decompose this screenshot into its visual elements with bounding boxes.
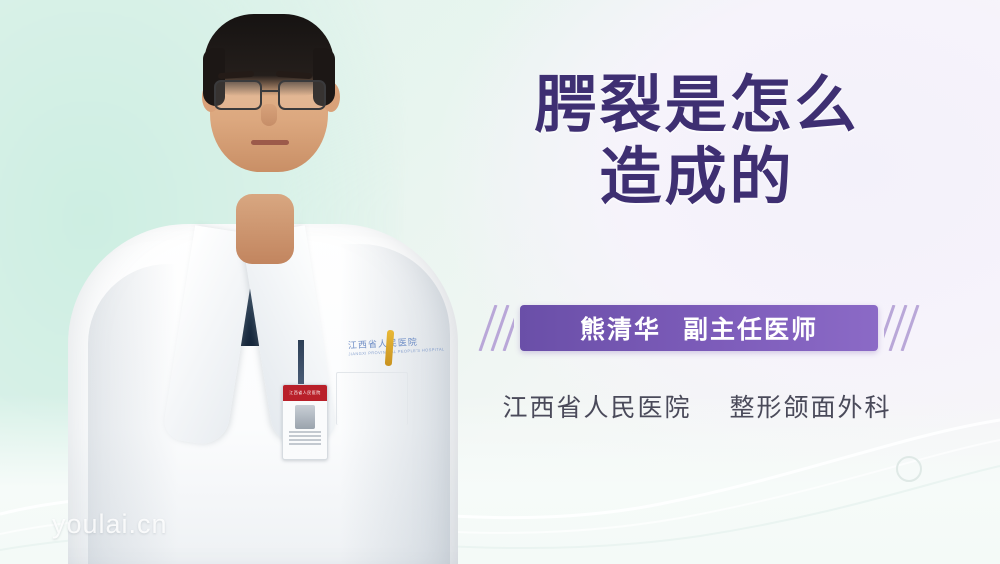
id-badge-line: [289, 443, 321, 445]
decorative-circle-icon: [896, 456, 922, 482]
glasses-lens-left: [214, 80, 262, 110]
doctor-name-bar: 熊清华 副主任医师: [520, 305, 878, 351]
video-title-line2: 造成的: [462, 142, 932, 214]
glasses-icon: [212, 80, 328, 106]
id-badge-line: [289, 439, 321, 441]
badge-lanyard-clip: [298, 340, 304, 386]
doctor-portrait: 江西省人民医院 JIANGXI PROVINCIAL PEOPLE'S HOSP…: [60, 0, 460, 564]
coat-pocket: [336, 372, 408, 425]
video-thumbnail: 江西省人民医院 JIANGXI PROVINCIAL PEOPLE'S HOSP…: [0, 0, 1000, 564]
nose: [261, 104, 277, 126]
video-title: 腭裂是怎么 造成的: [462, 70, 932, 214]
id-badge: 江西省人民医院: [282, 384, 328, 460]
hatch-decoration-left: [474, 305, 514, 351]
watermark: youlai.cn: [52, 509, 168, 540]
glasses-lens-right: [278, 80, 326, 110]
video-title-line1: 腭裂是怎么: [534, 71, 859, 140]
glasses-bridge: [260, 90, 280, 92]
neck: [236, 194, 294, 264]
mouth: [251, 140, 289, 145]
doctor-title: 副主任医师: [683, 310, 818, 346]
hatch-decoration-right: [884, 305, 924, 351]
id-badge-line: [289, 435, 321, 437]
id-badge-line: [289, 431, 321, 433]
department-name: 整形颌面外科: [729, 394, 891, 422]
hospital-name: 江西省人民医院: [503, 394, 692, 422]
id-badge-header: 江西省人民医院: [283, 385, 327, 401]
id-badge-photo: [295, 405, 315, 429]
doctor-name: 熊清华: [580, 310, 661, 346]
affiliation-line: 江西省人民医院 整形颌面外科: [462, 388, 932, 424]
